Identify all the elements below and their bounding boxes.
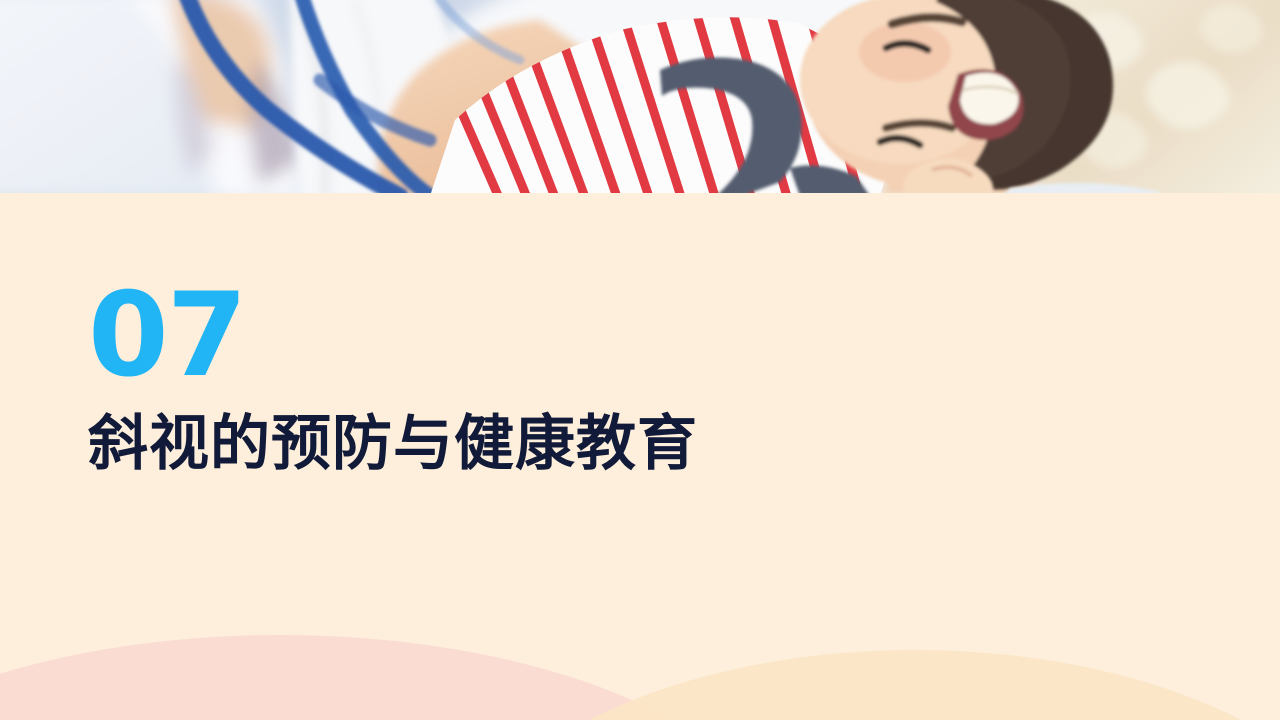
bottom-decoration	[0, 570, 1280, 720]
section-number: 07	[88, 278, 1188, 394]
header-photo	[0, 0, 1280, 193]
section-content: 07 斜视的预防与健康教育	[88, 278, 1188, 477]
header-photo-illustration	[0, 0, 1280, 193]
wave-pink	[0, 635, 790, 720]
wave-peach	[445, 650, 1280, 720]
slide-root: 07 斜视的预防与健康教育	[0, 0, 1280, 720]
wave-shapes	[0, 570, 1280, 720]
page-title: 斜视的预防与健康教育	[88, 412, 1188, 477]
